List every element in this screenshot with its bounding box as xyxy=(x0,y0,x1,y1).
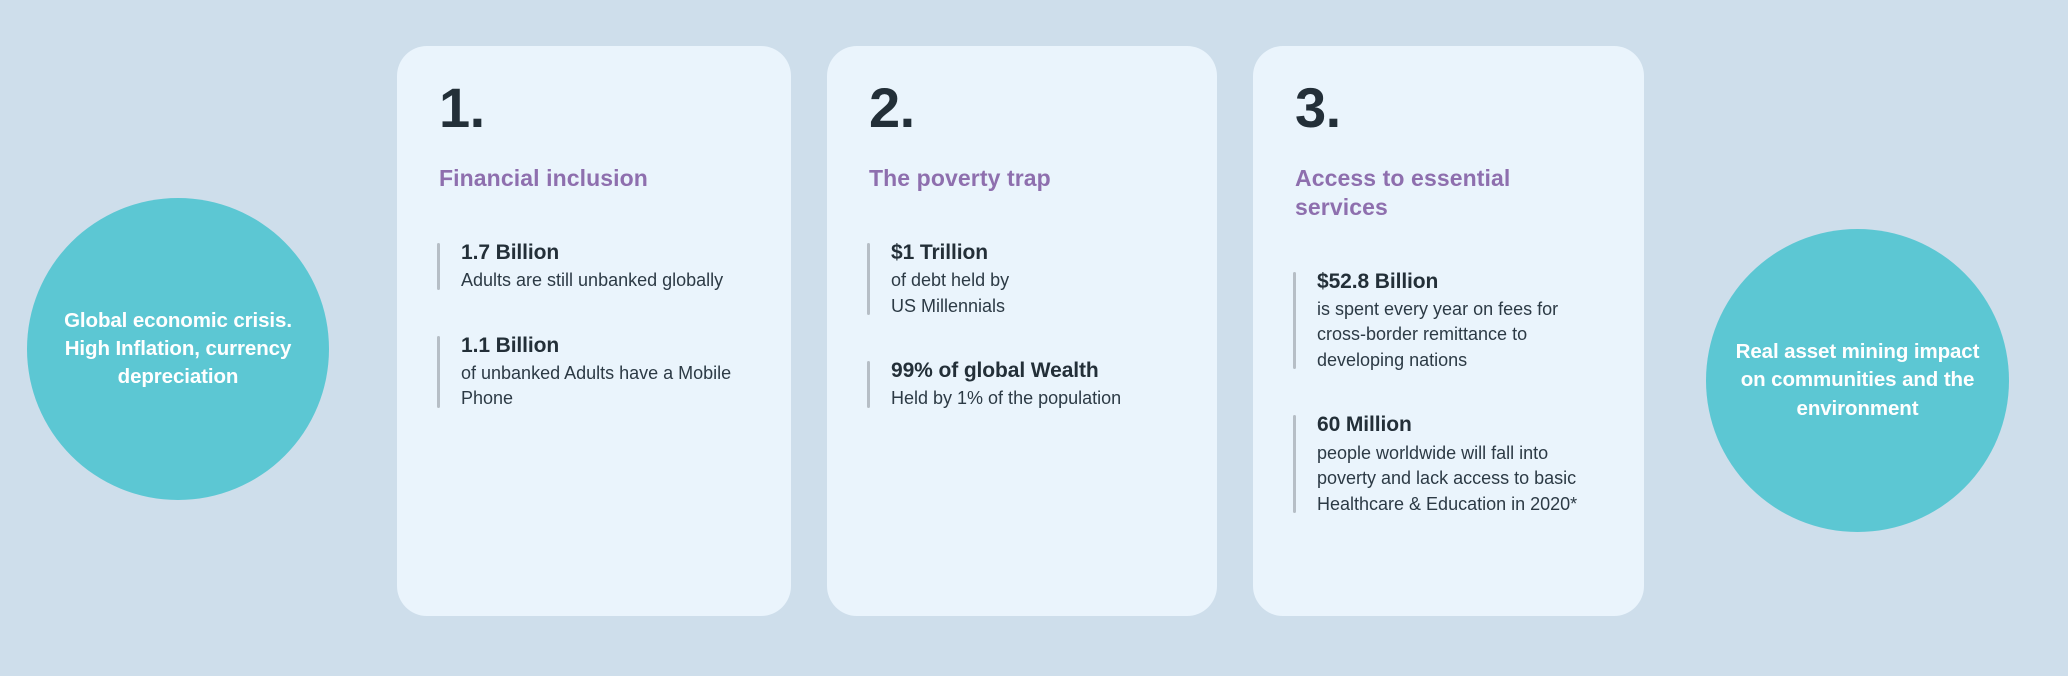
stat-item: 1.7 Billion Adults are still unbanked gl… xyxy=(437,239,751,294)
card-number: 1. xyxy=(439,80,751,136)
card-stats-list: 1.7 Billion Adults are still unbanked gl… xyxy=(437,239,751,412)
stat-value: $52.8 Billion xyxy=(1317,268,1604,295)
stat-item: 60 Million people worldwide will fall in… xyxy=(1293,411,1604,517)
stat-rule-icon xyxy=(867,243,870,315)
stat-description: people worldwide will fall into poverty … xyxy=(1317,441,1604,518)
right-context-circle: Real asset mining impact on communities … xyxy=(1706,229,2009,532)
left-context-circle: Global economic crisis. High Inflation, … xyxy=(27,198,329,500)
stat-item: 99% of global Wealth Held by 1% of the p… xyxy=(867,357,1177,412)
stat-rule-icon xyxy=(437,336,440,408)
stat-rule-icon xyxy=(1293,272,1296,370)
stat-value: 1.7 Billion xyxy=(461,239,751,266)
card-title: Access to essential services xyxy=(1295,164,1604,222)
stat-value: $1 Trillion xyxy=(891,239,1177,266)
stat-item: 1.1 Billion of unbanked Adults have a Mo… xyxy=(437,332,751,412)
right-circle-text: Real asset mining impact on communities … xyxy=(1725,338,1990,423)
card-stats-list: $1 Trillion of debt held by US Millennia… xyxy=(867,239,1177,412)
stat-description: Held by 1% of the population xyxy=(891,386,1177,412)
card-access-essential-services[interactable]: 3. Access to essential services $52.8 Bi… xyxy=(1253,46,1644,616)
infographic-stage: Global economic crisis. High Inflation, … xyxy=(0,0,2068,676)
stat-item: $52.8 Billion is spent every year on fee… xyxy=(1293,268,1604,374)
card-number: 2. xyxy=(869,80,1177,136)
card-stats-list: $52.8 Billion is spent every year on fee… xyxy=(1293,268,1604,518)
stat-value: 60 Million xyxy=(1317,411,1604,438)
card-title: Financial inclusion xyxy=(439,164,751,193)
stat-value: 99% of global Wealth xyxy=(891,357,1177,384)
left-circle-text: Global economic crisis. High Inflation, … xyxy=(63,307,293,392)
stat-description: of unbanked Adults have a Mobile Phone xyxy=(461,361,751,412)
stat-description: is spent every year on fees for cross-bo… xyxy=(1317,297,1604,374)
card-title: The poverty trap xyxy=(869,164,1177,193)
stat-rule-icon xyxy=(1293,415,1296,513)
card-poverty-trap[interactable]: 2. The poverty trap $1 Trillion of debt … xyxy=(827,46,1217,616)
stat-item: $1 Trillion of debt held by US Millennia… xyxy=(867,239,1177,319)
stat-rule-icon xyxy=(867,361,870,408)
stat-description: Adults are still unbanked globally xyxy=(461,268,751,294)
stat-description: of debt held by US Millennials xyxy=(891,268,1177,319)
card-financial-inclusion[interactable]: 1. Financial inclusion 1.7 Billion Adult… xyxy=(397,46,791,616)
stat-value: 1.1 Billion xyxy=(461,332,751,359)
stat-rule-icon xyxy=(437,243,440,290)
card-number: 3. xyxy=(1295,80,1604,136)
